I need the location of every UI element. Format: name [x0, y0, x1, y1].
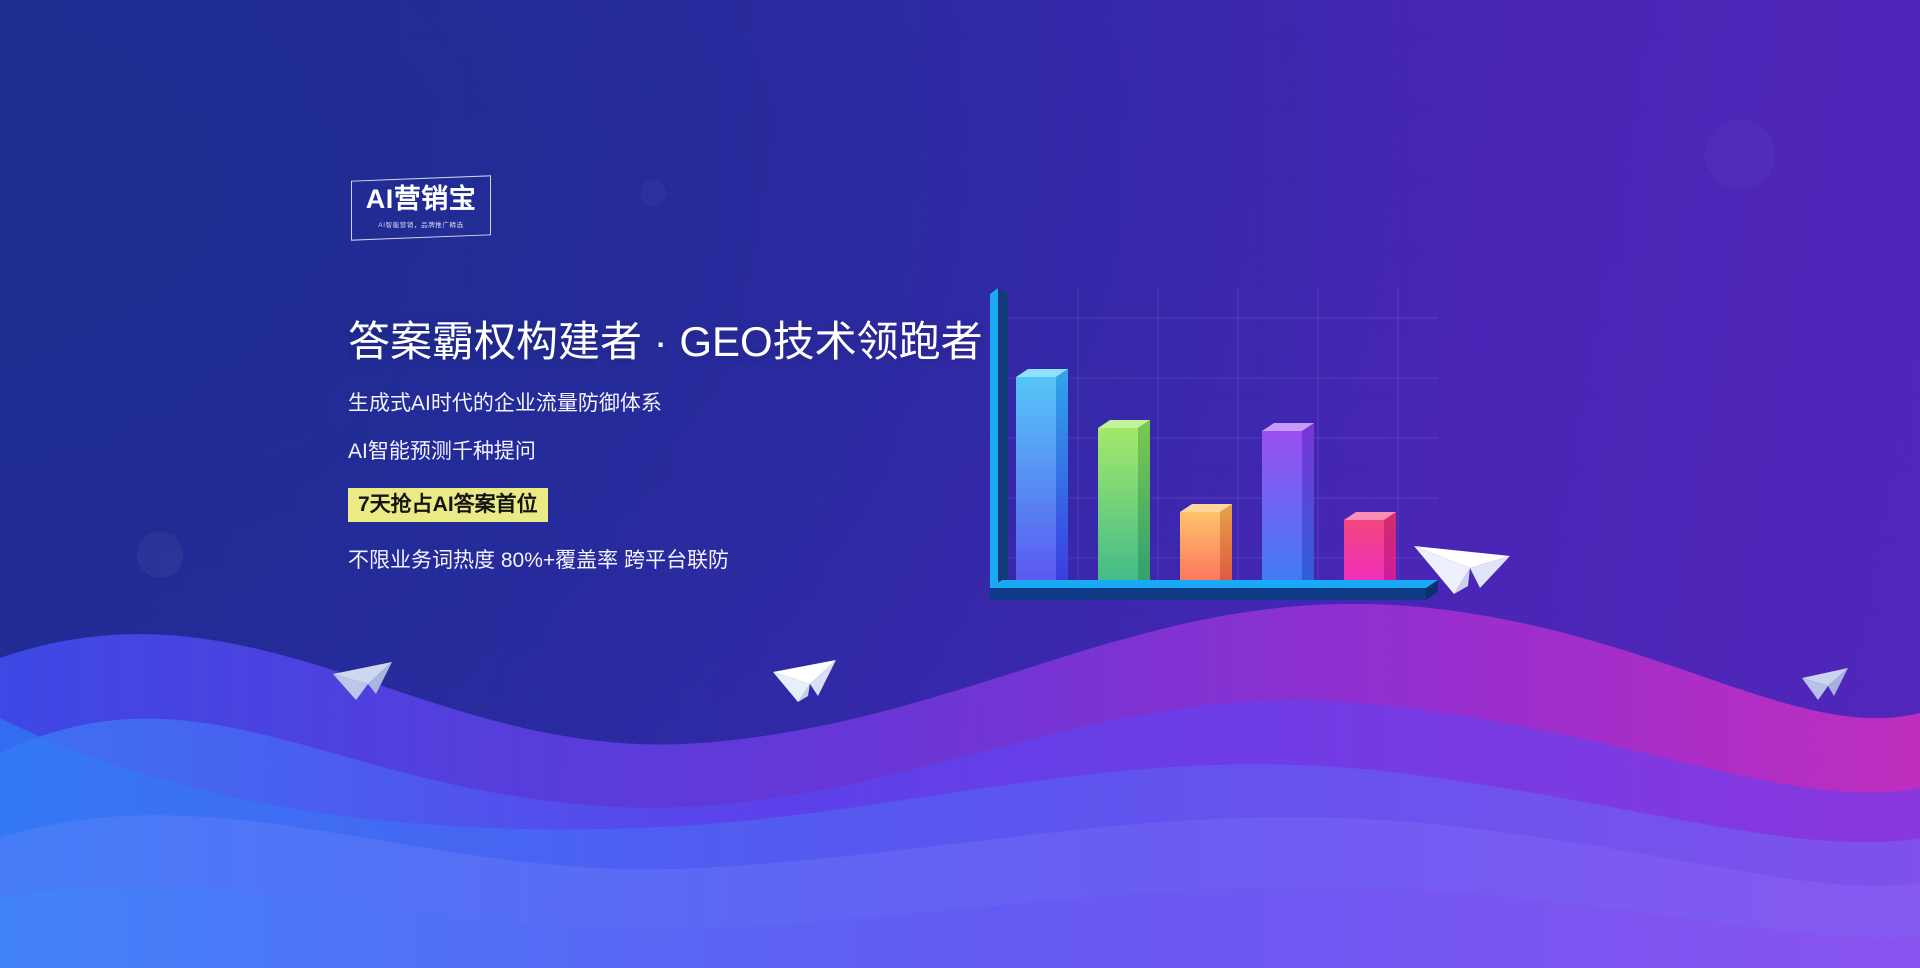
hero-banner: AI营销宝 AI智能营销，品牌推广精选 答案霸权构建者 · GEO技术领跑者 生…: [0, 0, 1920, 968]
hero-subtitle-1: 生成式AI时代的企业流量防御体系: [348, 393, 1008, 414]
decor-circle: [640, 180, 666, 206]
brand-logo[interactable]: AI营销宝 AI智能营销，品牌推广精选: [351, 178, 491, 238]
hero-highlight-badge: 7天抢占AI答案首位: [348, 488, 548, 522]
paper-plane-icon: [330, 650, 398, 702]
hero-subtitle-3: 不限业务词热度 80%+覆盖率 跨平台联防: [348, 550, 1008, 571]
logo-tagline: AI智能营销，品牌推广精选: [351, 219, 491, 229]
chart-base: [990, 580, 1438, 600]
bar-chart-illustration: [968, 288, 1438, 668]
hero-subtitle-2: AI智能预测千种提问: [348, 441, 1008, 462]
chart-bar: [1180, 504, 1232, 588]
hero-copy: 答案霸权构建者 · GEO技术领跑者 生成式AI时代的企业流量防御体系 AI智能…: [348, 318, 1008, 571]
paper-plane-icon: [1410, 516, 1520, 601]
page-title: 答案霸权构建者 · GEO技术领跑者: [348, 318, 1008, 365]
chart-bar: [1262, 423, 1314, 588]
decor-circle: [1705, 120, 1775, 190]
chart-bar: [1098, 420, 1150, 588]
chart-y-axis: [990, 288, 1008, 594]
paper-plane-icon: [770, 650, 842, 706]
wave-decoration: [0, 538, 1920, 968]
logo-text: AI营销宝: [351, 186, 491, 213]
paper-plane-icon: [1800, 660, 1852, 702]
chart-bar: [1016, 369, 1068, 588]
hero-highlight-wrap: 7天抢占AI答案首位: [348, 488, 1008, 522]
chart-bar: [1344, 512, 1396, 588]
